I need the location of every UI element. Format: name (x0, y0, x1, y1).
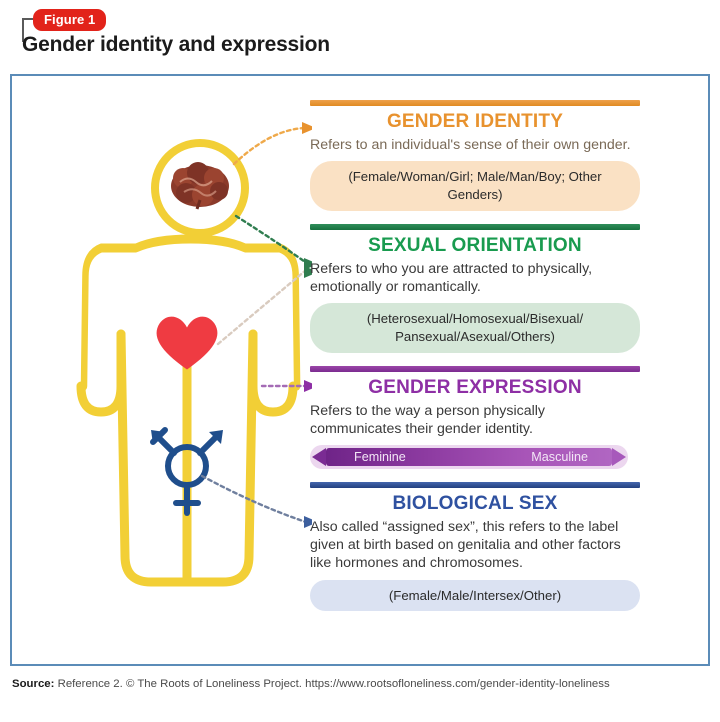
page-title: Gender identity and expression (22, 33, 330, 57)
section-spacer (310, 211, 640, 224)
figure-badge: Figure 1 (33, 9, 106, 31)
spectrum-label-masculine: Masculine (531, 450, 588, 464)
section-title-gender-identity: GENDER IDENTITY (310, 111, 640, 133)
spectrum-label-feminine: Feminine (354, 450, 406, 464)
infographic-panel: GENDER IDENTITY Refers to an individual'… (10, 74, 710, 666)
section-spacer (310, 469, 640, 482)
section-biological-sex: BIOLOGICAL SEX Also called “assigned sex… (310, 482, 640, 611)
section-title-sexual-orientation: SEXUAL ORIENTATION (310, 235, 640, 257)
section-description-gender-identity: Refers to an individual's sense of their… (310, 136, 640, 154)
spectrum-right-arrow-icon (612, 448, 626, 466)
section-rule-gender-identity (310, 100, 640, 106)
connector-heart-to-sexual-orientation (218, 270, 306, 344)
section-title-biological-sex: BIOLOGICAL SEX (310, 493, 640, 515)
section-description-sexual-orientation: Refers to who you are attracted to physi… (310, 260, 640, 296)
human-figure-illustration (12, 76, 312, 666)
source-note: Source: Reference 2. © The Roots of Lone… (12, 678, 610, 690)
section-rule-biological-sex (310, 482, 640, 488)
figure-header: Figure 1 Gender identity and expression (0, 0, 720, 72)
connector-head-to-sexual-orientation (236, 216, 308, 264)
gender-expression-spectrum: Feminine Masculine (310, 445, 628, 469)
section-sexual-orientation: SEXUAL ORIENTATION Refers to who you are… (310, 224, 640, 353)
section-gender-identity: GENDER IDENTITY Refers to an individual'… (310, 100, 640, 211)
brain-icon (171, 162, 229, 209)
connector-brain-to-gender-identity (234, 128, 304, 164)
section-gender-expression: GENDER EXPRESSION Refers to the way a pe… (310, 366, 640, 469)
section-pill-gender-identity: (Female/Woman/Girl; Male/Man/Boy; Other … (310, 161, 640, 211)
heart-icon (157, 317, 218, 370)
sections-column: GENDER IDENTITY Refers to an individual'… (310, 100, 640, 611)
source-label: Source: (12, 678, 54, 690)
section-spacer (310, 353, 640, 366)
section-rule-gender-expression (310, 366, 640, 372)
section-pill-biological-sex: (Female/Male/Intersex/Other) (310, 580, 640, 612)
section-rule-sexual-orientation (310, 224, 640, 230)
section-title-gender-expression: GENDER EXPRESSION (310, 377, 640, 399)
right-arm (253, 334, 293, 412)
spectrum-left-arrow-icon (312, 448, 326, 466)
section-pill-sexual-orientation: (Heterosexual/Homosexual/Bisexual/ Panse… (310, 303, 640, 353)
source-text: Reference 2. © The Roots of Loneliness P… (54, 678, 609, 690)
section-description-biological-sex: Also called “assigned sex”, this refers … (310, 518, 640, 573)
section-description-gender-expression: Refers to the way a person physically co… (310, 402, 640, 438)
